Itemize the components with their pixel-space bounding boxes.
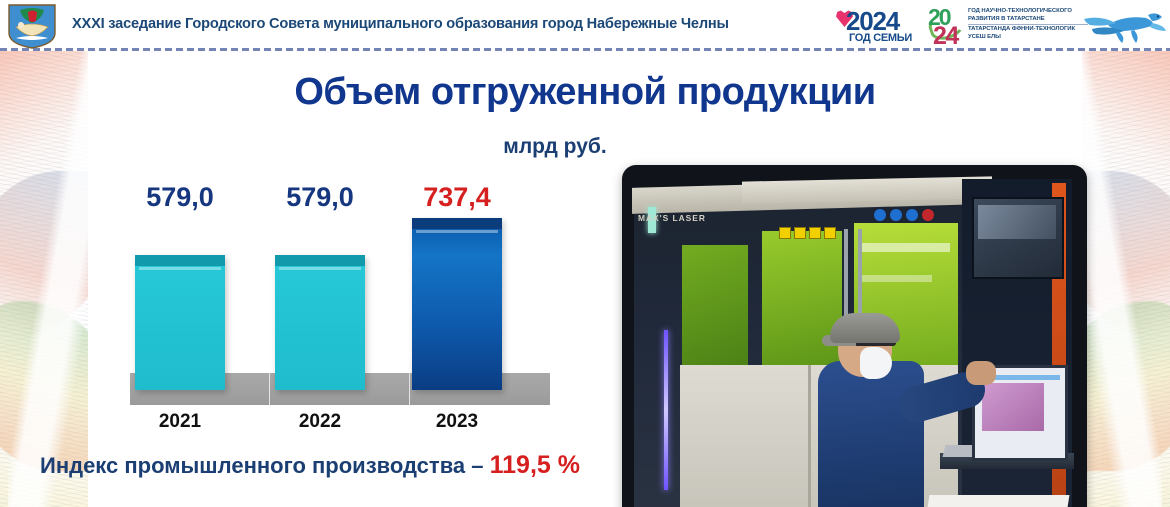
laser-indicator-light (664, 330, 668, 490)
warning-label-icon (779, 227, 791, 239)
page-header: XXXI заседание Городского Совета муницип… (0, 0, 1170, 50)
bar-group-2023 (412, 150, 502, 390)
industrial-production-index-note: Индекс промышленного производства – 119,… (0, 451, 620, 480)
bar-label-2022: 2022 (255, 411, 385, 433)
bar-cap (412, 218, 502, 229)
machine-brand-label: MAX'S LASER (638, 213, 718, 227)
bar-2023 (412, 218, 502, 390)
bar-chart: 579,0 2021 579,0 2022 737,4 2023 (120, 151, 560, 451)
footnote-prefix: Индекс промышленного производства – (40, 453, 490, 478)
bar-2021 (135, 255, 225, 390)
bar-cap (135, 255, 225, 266)
safety-icon (890, 209, 902, 221)
warning-label-icon (794, 227, 806, 239)
logo-science-line2: РАЗВИТИЯ В ТАТАРСТАНЕ (968, 15, 1088, 23)
safety-icon (874, 209, 886, 221)
bar-2022 (275, 255, 365, 390)
header-divider (0, 48, 1170, 51)
page-title: XXXI заседание Городского Совета муницип… (72, 16, 832, 32)
worker-figure (818, 361, 924, 507)
bar-group-2022 (275, 150, 365, 390)
logo-science-line3: ТАТАРСТАНДА ФӘННИ-ТЕХНОЛОГИК (968, 24, 1088, 34)
bar-group-2021 (135, 150, 225, 390)
bar-gloss (139, 267, 221, 270)
bar-cap (275, 255, 365, 266)
bar-gloss (416, 230, 498, 233)
respirator-mask (860, 347, 892, 379)
bar-label-2021: 2021 (115, 411, 245, 433)
footnote-value: 119,5 % (490, 451, 580, 479)
logo-science-text: ГОД НАУЧНО-ТЕХНОЛОГИЧЕСКОГО РАЗВИТИЯ В Т… (968, 7, 1088, 41)
coat-of-arms-icon (6, 3, 58, 49)
bar-label-2023: 2023 (392, 411, 522, 433)
safety-icon (906, 209, 918, 221)
logo-science-line4: УСЕШ ЕЛЫ (968, 33, 1088, 41)
logo-science-line1: ГОД НАУЧНО-ТЕХНОЛОГИЧЕСКОГО (968, 7, 1088, 15)
bar-gloss (279, 267, 361, 270)
logo-year-of-family-caption: ГОД СЕМЬИ (849, 32, 912, 44)
factory-photo: MAX'S LASER (622, 165, 1087, 507)
logo-science-mark-bottom: 24 (933, 22, 958, 51)
winged-snow-leopard-icon (1078, 5, 1166, 47)
warning-label-icon (824, 227, 836, 239)
prohibition-icon (922, 209, 934, 221)
slide-title: Объем отгруженной продукции (0, 71, 1170, 114)
warning-label-icon (809, 227, 821, 239)
slide-body: Объем отгруженной продукции млрд руб. 57… (0, 51, 1170, 507)
logo-year-of-family: 2024 ГОД СЕМЬИ (836, 6, 928, 46)
